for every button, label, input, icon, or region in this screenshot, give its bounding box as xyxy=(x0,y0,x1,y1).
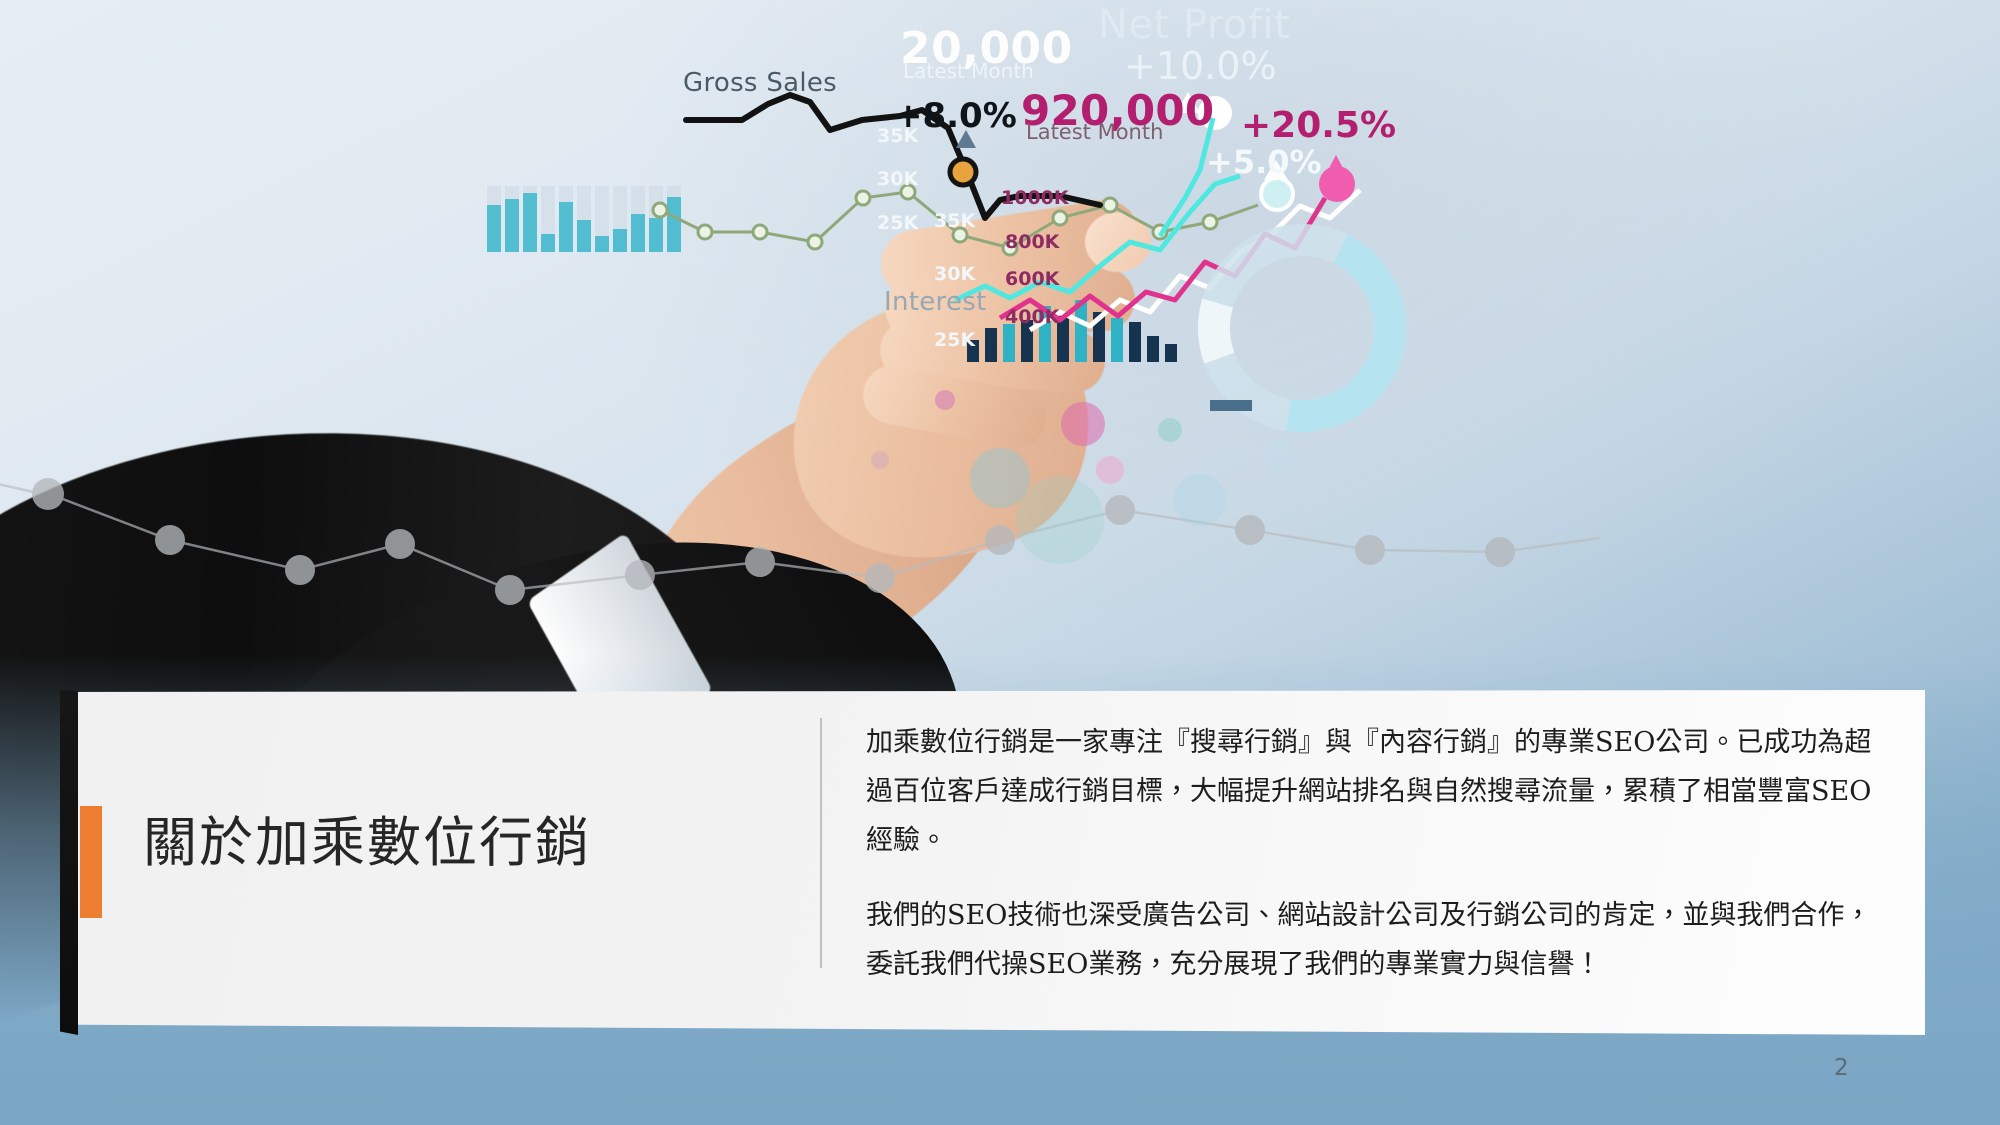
gross-sales-line xyxy=(686,95,1100,218)
content-divider-rule xyxy=(820,718,822,968)
white-line-marker xyxy=(1261,178,1293,210)
paragraph-2: 我們的SEO技術也深受廣告公司、網站設計公司及行銷公司的肯定，並與我們合作，委託… xyxy=(866,891,1886,989)
title-accent-bar xyxy=(80,806,102,918)
left-bar-chart xyxy=(487,186,681,252)
paragraph-1: 加乘數位行銷是一家專注『搜尋行銷』與『內容行銷』的專業SEO公司。已成功為超過百… xyxy=(866,718,1886,865)
page-number: 2 xyxy=(1834,1055,1849,1081)
presentation-slide: Gross Sales Interest Net Profit 20,000 L… xyxy=(0,0,2000,1125)
bokeh-bubbles xyxy=(871,390,1296,564)
cyan-line-endpoint xyxy=(1198,96,1232,130)
gross-sales-marker xyxy=(950,159,976,185)
page-title: 關於加乘數位行銷 xyxy=(143,798,591,877)
trend-triangle-indicators xyxy=(956,92,1345,180)
donut-chart xyxy=(1184,210,1419,445)
donut-legend-swatch xyxy=(1210,400,1252,411)
panel-left-dark-edge xyxy=(60,690,78,1035)
body-text: 加乘數位行銷是一家專注『搜尋行銷』與『內容行銷』的專業SEO公司。已成功為超過百… xyxy=(866,718,1886,989)
